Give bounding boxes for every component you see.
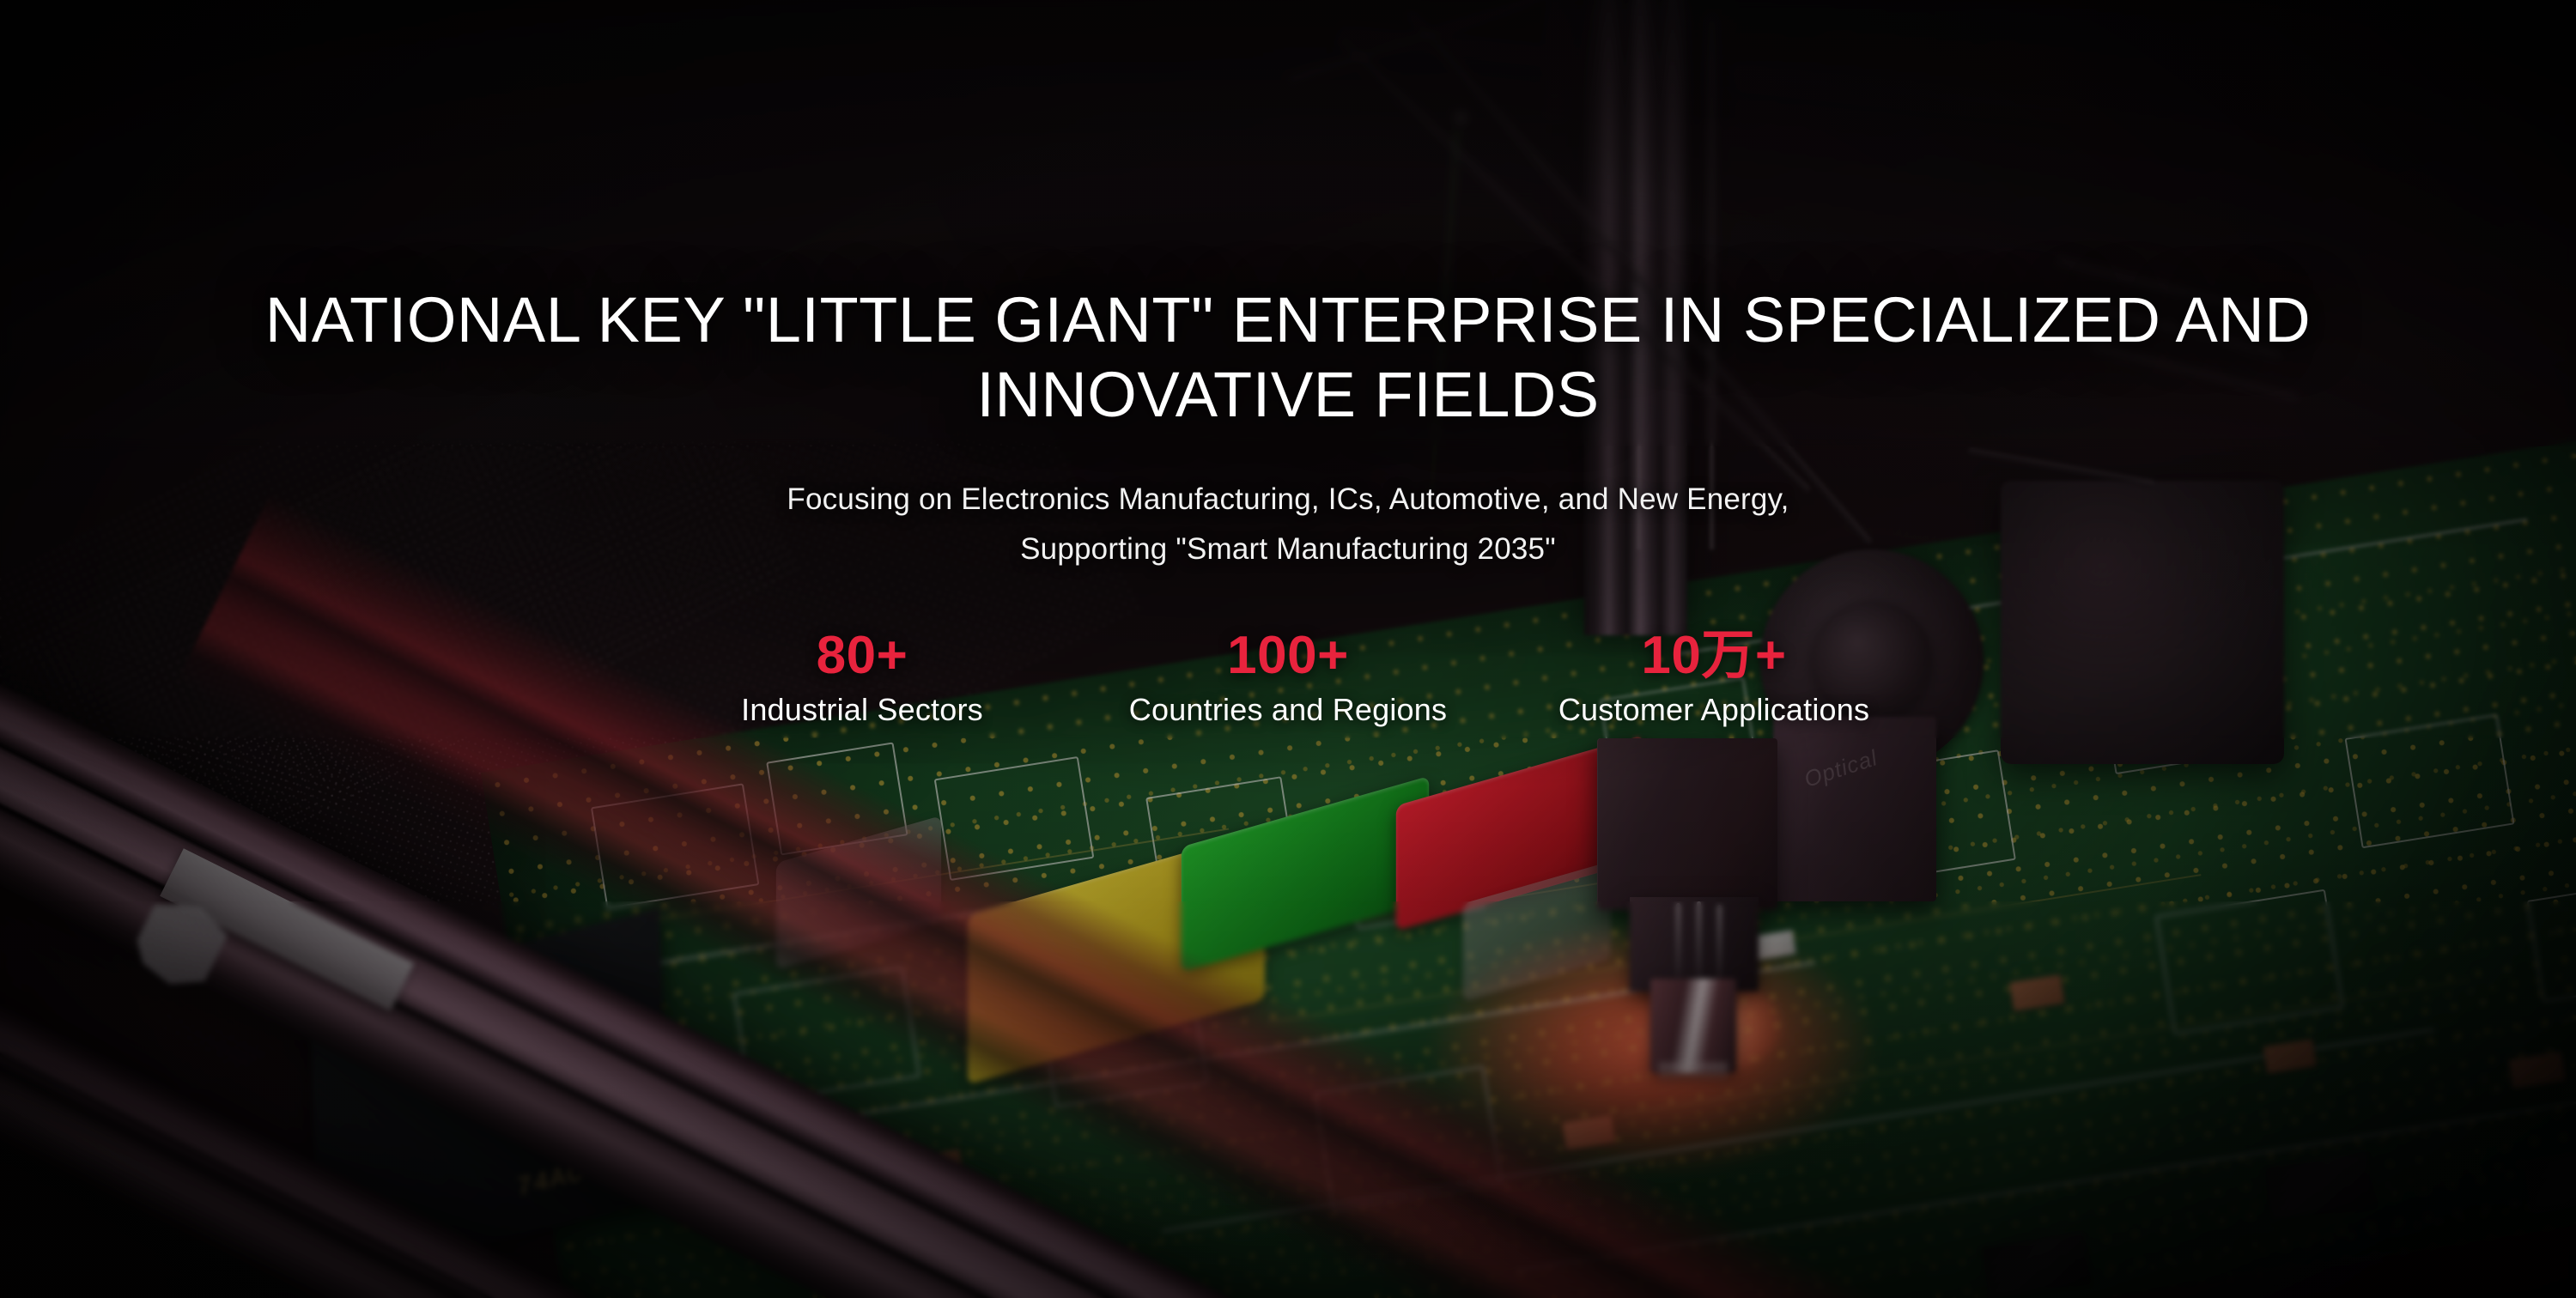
stat-label: Customer Applications [1542, 692, 1886, 728]
hero-banner: P4S58 74AC125 ◉ [0, 0, 2576, 1298]
stat-countries-and-regions: 100+ Countries and Regions [1116, 628, 1460, 728]
page-title: NATIONAL KEY "LITTLE GIANT" ENTERPRISE I… [189, 283, 2387, 432]
statistics-row: 80+ Industrial Sectors 100+ Countries an… [690, 628, 1886, 728]
stat-value: 10万+ [1542, 628, 1886, 683]
subtitle-line-2: Supporting "Smart Manufacturing 2035" [787, 525, 1789, 574]
stat-value: 100+ [1116, 628, 1460, 683]
stat-label: Countries and Regions [1116, 692, 1460, 728]
stat-industrial-sectors: 80+ Industrial Sectors [690, 628, 1034, 728]
hero-content: NATIONAL KEY "LITTLE GIANT" ENTERPRISE I… [0, 0, 2576, 1298]
subtitle-line-1: Focusing on Electronics Manufacturing, I… [787, 475, 1789, 525]
stat-value: 80+ [690, 628, 1034, 683]
stat-customer-applications: 10万+ Customer Applications [1542, 628, 1886, 728]
hero-subtitle: Focusing on Electronics Manufacturing, I… [787, 475, 1789, 574]
stat-label: Industrial Sectors [690, 692, 1034, 728]
